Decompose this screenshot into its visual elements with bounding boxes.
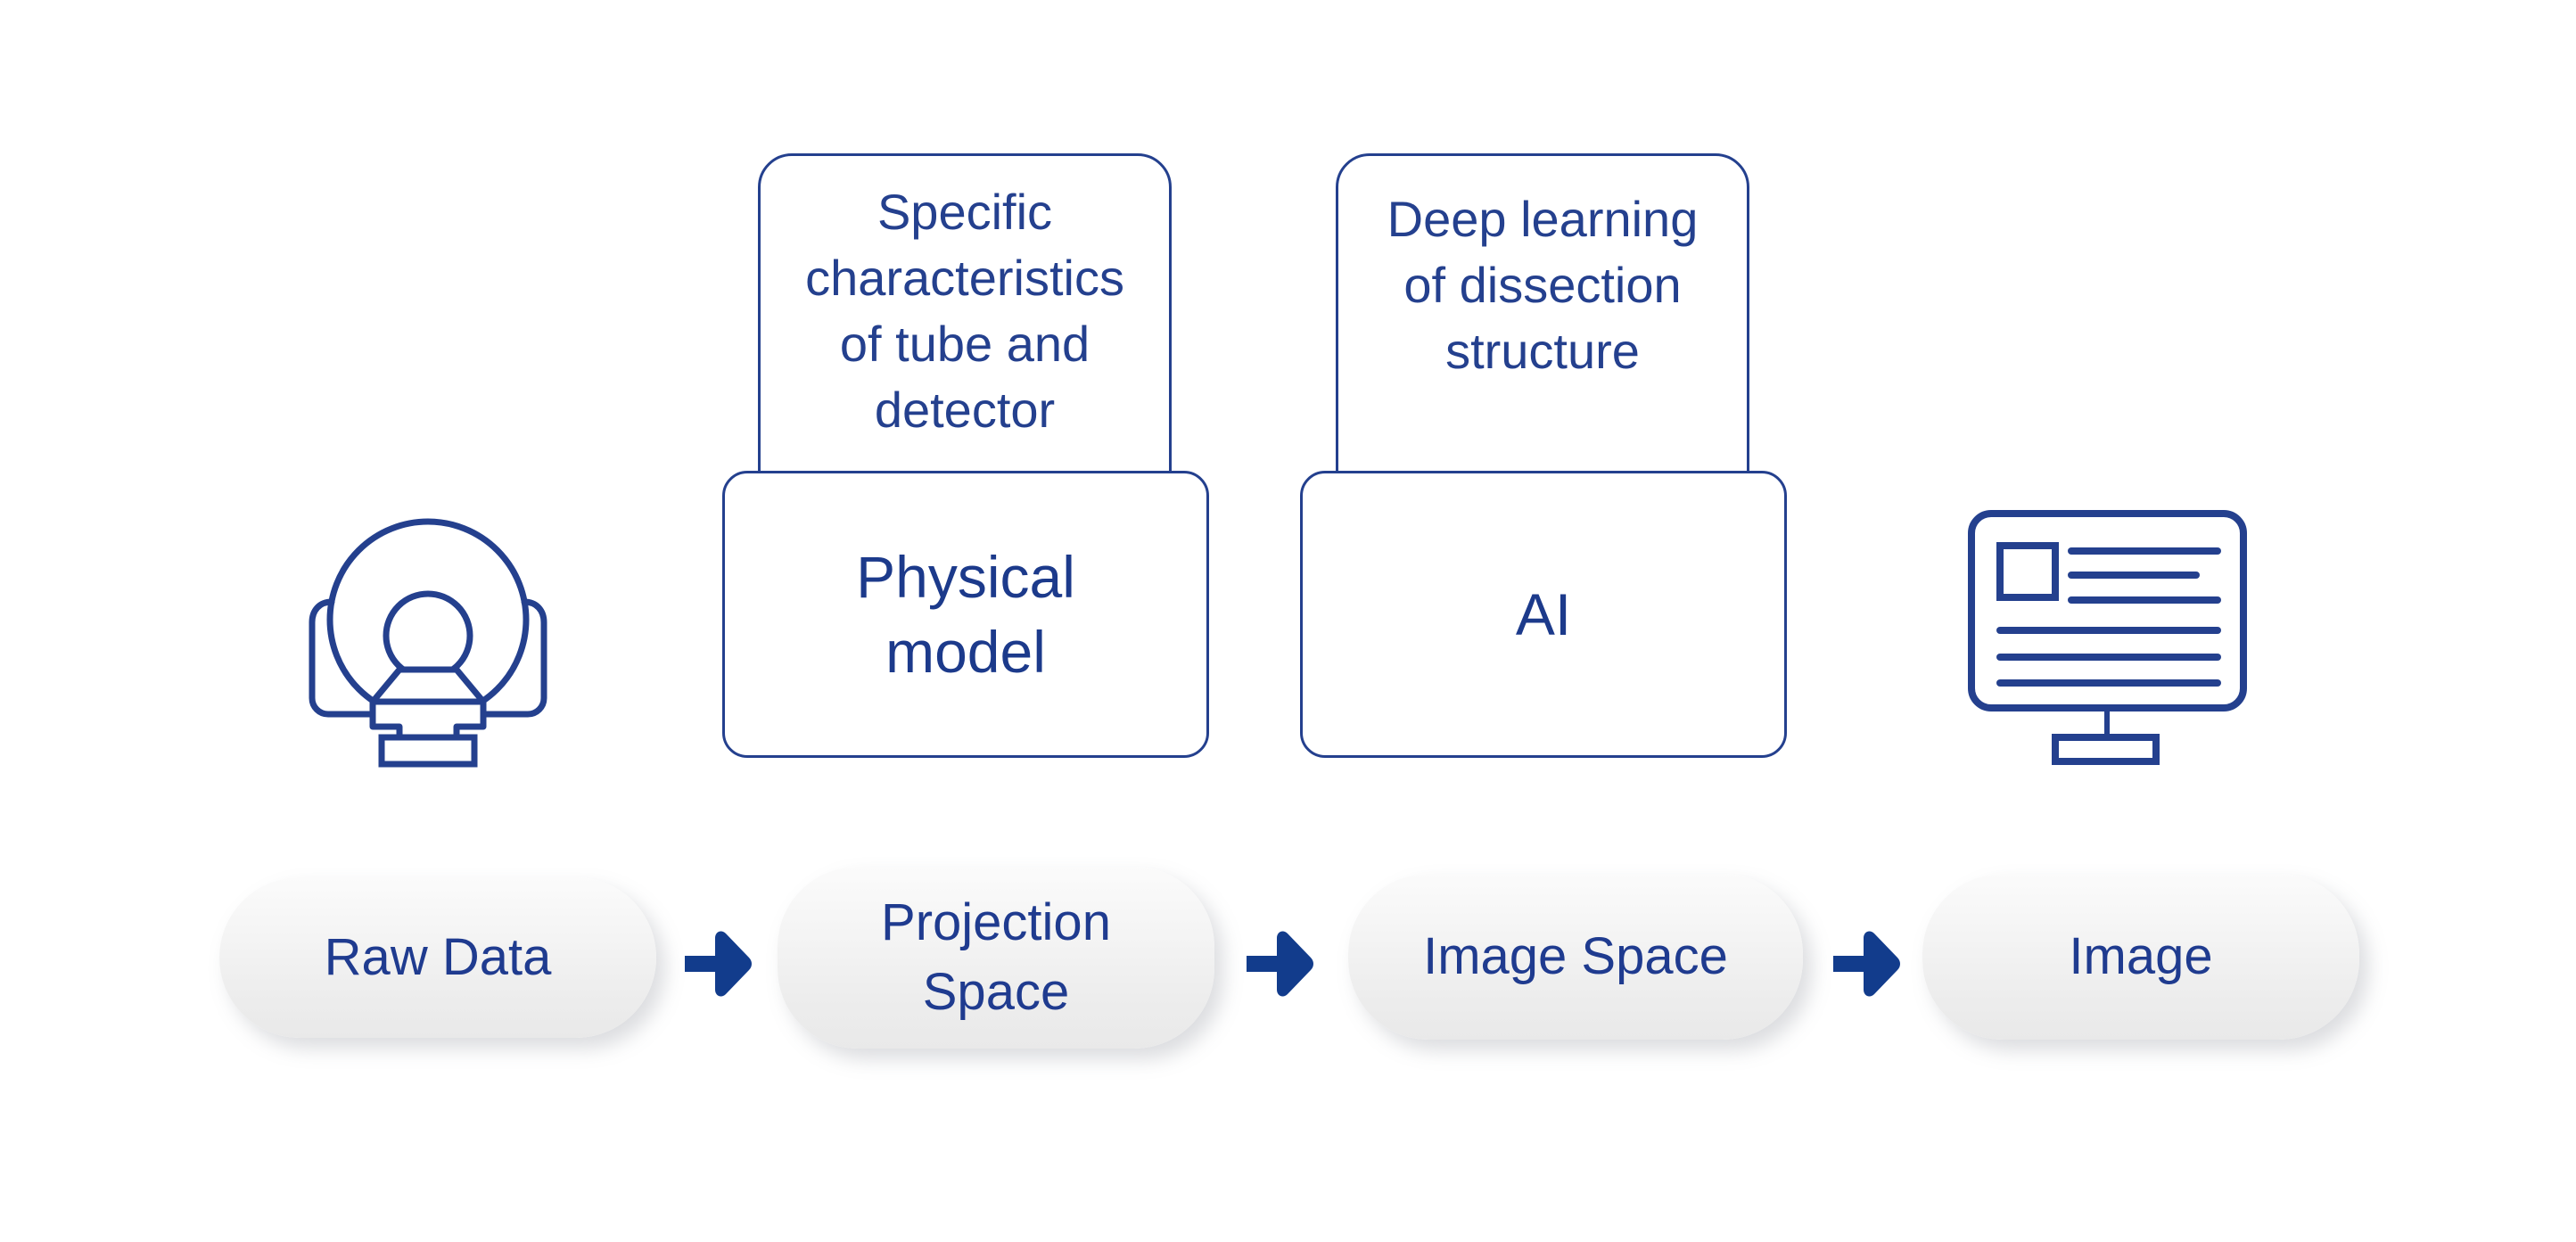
arrow-right-icon-1 — [685, 929, 754, 999]
monitor-icon — [1966, 508, 2296, 767]
stage-box-physical-model[interactable]: Physical model — [722, 471, 1209, 758]
pill-image-space[interactable]: Image Space — [1348, 874, 1803, 1040]
ct-scanner-icon — [294, 504, 562, 771]
pill-raw-data[interactable]: Raw Data — [219, 877, 656, 1038]
stage-box-ai[interactable]: AI — [1300, 471, 1787, 758]
pill-image[interactable]: Image — [1922, 874, 2359, 1040]
stage-label-ai: AI — [1516, 577, 1571, 652]
pill-label-image-space: Image Space — [1423, 922, 1728, 991]
pill-label-projection-space: Projection Space — [881, 888, 1111, 1026]
diagram-canvas: Specific characteristics of tube and det… — [0, 0, 2576, 1242]
caption-text-ai: Deep learning of dissection structure — [1338, 186, 1747, 384]
arrow-right-icon-3 — [1833, 929, 1903, 999]
arrow-right-icon-2 — [1247, 929, 1316, 999]
stage-label-physical-model: Physical model — [856, 539, 1075, 690]
pill-label-raw-data: Raw Data — [325, 923, 552, 992]
caption-text-physical-model: Specific characteristics of tube and det… — [761, 179, 1169, 443]
pill-label-image: Image — [2069, 922, 2212, 991]
pill-projection-space[interactable]: Projection Space — [778, 867, 1214, 1049]
